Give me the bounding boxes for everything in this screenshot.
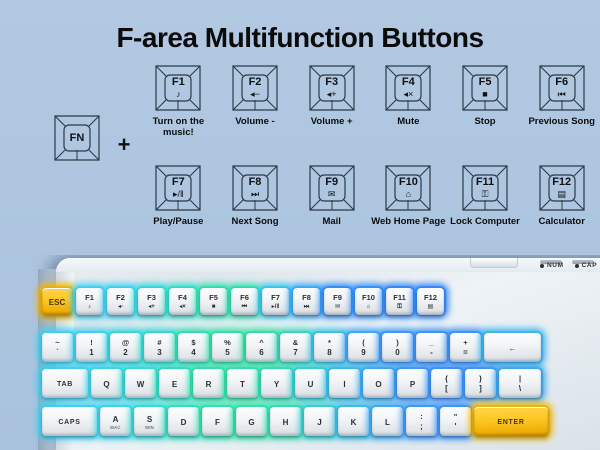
keyboard-key-q[interactable]: Q [91,369,122,398]
keycap-glyph-icon: ◂+ [327,90,337,99]
keyboard-key-esc[interactable]: ESC [42,288,72,315]
key-label: A [113,416,119,424]
key-slot: F2◂- [107,288,134,314]
key-label: ] [479,385,482,393]
keyboard-key-h[interactable]: H [270,407,301,436]
keycap-label: F5 [479,77,492,88]
key-slot: L [372,407,403,435]
keyboard-key-o[interactable]: O [363,369,394,398]
keycap-glyph-icon: ⌂ [406,190,411,199]
fn-combo-f12: F12▤Calculator [523,164,600,228]
key-label: F8 [302,294,311,302]
keycap-label: F11 [476,177,494,188]
keyboard-key-y[interactable]: Y [261,369,292,398]
key-label: 5 [225,349,229,357]
key-label: J [317,419,321,427]
key-slot: ^6 [246,333,277,361]
keyboard-key-key[interactable]: !1 [76,333,107,362]
keycap-f11: F11⚿ [461,164,509,212]
function-caption: Mute [370,117,447,128]
fn-combo-f9: F9✉Mail [293,164,370,228]
key-label: ← [509,345,517,353]
keycap-glyph-icon: ⏮ [558,90,566,99]
fn-combo-f1: F1♪Turn on the music! [140,64,217,139]
function-caption: Calculator [523,217,600,228]
keyboard-key-t[interactable]: T [227,369,258,398]
keycap-label: F2 [249,77,262,88]
key-label: - [430,349,433,357]
key-slot: W [125,369,156,397]
keyboard-key-l[interactable]: L [372,407,403,436]
key-label: F3 [147,294,156,302]
key-slot: F1♪ [76,288,103,314]
key-slot: F [202,407,233,435]
key-shift-label: # [157,339,161,347]
key-label: E [172,381,177,389]
key-label: 0 [395,349,399,357]
key-slot: T [227,369,258,397]
keycap-f1: F1♪ [154,64,202,112]
key-glyph-icon: ⏮ [242,304,247,310]
key-shift-label: @ [122,339,129,347]
key-slot: J [304,407,335,435]
key-slot: Y [261,369,292,397]
function-caption: Mail [293,217,370,228]
keyboard-key-key[interactable]: ~` [42,333,73,362]
key-shift-label: ~ [55,339,59,347]
keyboard-key-i[interactable]: I [329,369,360,398]
key-sublabel: MAC [110,426,120,430]
keycap-label: F3 [325,77,338,88]
keyboard-key-g[interactable]: G [236,407,267,436]
function-caption: Previous Song [523,117,600,128]
key-glyph-icon: ⏭ [304,304,309,310]
led-label: NUM [547,262,564,269]
key-slot: #3 [144,333,175,361]
key-label: ; [420,423,423,431]
keycap-label: F12 [552,177,571,188]
keycap-glyph-icon: ♪ [176,90,181,99]
key-slot: AMAC [100,407,131,435]
key-shift-label: : [420,413,423,421]
usb-port [470,258,518,268]
function-caption: Volume + [293,117,370,128]
keyboard-key-f5[interactable]: F5■ [200,288,227,315]
key-glyph-icon: ▤ [428,304,434,310]
key-slot: TAB [42,369,88,397]
key-label: L [385,419,390,427]
key-slot: F3◂+ [138,288,165,314]
keyboard-key-r[interactable]: R [193,369,224,398]
keycap-label: F9 [325,177,338,188]
fn-combo-f5: F5■Stop [447,64,524,139]
keycap-f10: F10⌂ [384,164,432,212]
keyboard-key-f6[interactable]: F6⏮ [231,288,258,315]
key-label: D [181,419,187,427]
key-slot: &7 [280,333,311,361]
key-slot: Q [91,369,122,397]
key-label: U [308,381,314,389]
key-shift-label: ! [90,339,93,347]
keyboard-key-key[interactable]: #3 [144,333,175,362]
key-label: 8 [327,349,331,357]
led-indicator-cap: CAP [575,262,598,269]
key-glyph-icon: ◂× [179,304,186,310]
key-label: F4 [178,294,187,302]
key-slot: SWIN [134,407,165,435]
key-label: F5 [209,294,218,302]
key-slot: $4 [178,333,209,361]
key-label: I [343,381,345,389]
key-label: Y [274,381,279,389]
key-slot: P [397,369,428,397]
fn-combo-f10: F10⌂Web Home Page [370,164,447,228]
key-shift-label: + [463,339,467,347]
key-glyph-icon: ⚿ [397,304,402,310]
key-slot: += [450,333,481,361]
key-row-qwerty-row: TABQWERTYUIOP{[}]|\ [42,369,541,397]
keyboard-key-f11[interactable]: F11⚿ [386,288,413,315]
key-label: ESC [49,299,65,307]
key-shift-label: ( [362,339,365,347]
keyboard-key-a[interactable]: AMAC [100,407,131,436]
keycap-label: F4 [402,77,415,88]
led-indicator-num: NUM [540,262,564,269]
keyboard-key-e[interactable]: E [159,369,190,398]
key-label: F1 [85,294,94,302]
key-label: CAPS [58,419,80,426]
keycap-glyph-icon: ⏭ [251,190,259,199]
keyboard-key-key[interactable]: "' [440,407,471,436]
keyboard-key-k[interactable]: K [338,407,369,436]
key-shift-label: _ [429,339,433,347]
keyboard-key-u[interactable]: U [295,369,326,398]
function-caption: Stop [447,117,524,128]
key-label: F7 [271,294,280,302]
fn-keycap: FN [53,114,101,162]
key-glyph-icon: ⌂ [367,304,371,310]
key-sublabel: WIN [145,426,154,430]
key-slot: D [168,407,199,435]
keyboard-key-key[interactable]: += [450,333,481,362]
key-shift-label: $ [191,339,195,347]
keyboard-key-key[interactable]: $4 [178,333,209,362]
function-key-row-1: F1♪Turn on the music!F2◂−Volume -F3◂+Vol… [140,64,600,139]
keyboard-key-f8[interactable]: F8⏭ [293,288,320,315]
keyboard-key-d[interactable]: D [168,407,199,436]
key-slot: R [193,369,224,397]
key-label: \ [519,385,521,393]
keycap-label: F6 [555,77,568,88]
keyboard-key-key[interactable]: _- [416,333,447,362]
key-label: F11 [393,294,406,302]
keycap-f6: F6⏮ [538,64,586,112]
key-shift-label: | [519,375,521,383]
indicator-leds: NUMCAP [540,262,597,269]
key-label: F12 [424,294,437,302]
function-caption: Lock Computer [447,217,524,228]
key-slot: ENTER [474,407,548,435]
keyboard-key-caps[interactable]: CAPS [42,407,97,436]
key-label: ENTER [497,419,524,426]
key-slot: U [295,369,326,397]
keycap-glyph-icon: ✉ [328,190,336,199]
led-label: CAP [582,262,598,269]
key-glyph-icon: ▸/‖ [272,304,280,310]
key-label: G [248,419,254,427]
fn-combo-f3: F3◂+Volume + [293,64,370,139]
key-glyph-icon: ♪ [88,304,91,310]
keycap-glyph-icon: ◂− [250,90,260,99]
key-slot: F7▸/‖ [262,288,289,314]
key-label: K [351,419,357,427]
keycap-f8: F8⏭ [231,164,279,212]
page-title: F-area Multifunction Buttons [0,22,600,54]
key-label: F9 [333,294,342,302]
key-slot: F11⚿ [386,288,413,314]
keyboard-key-f10[interactable]: F10⌂ [355,288,382,315]
key-slot: @2 [110,333,141,361]
key-label: F6 [240,294,249,302]
keycap-f4: F4◂× [384,64,432,112]
key-shift-label: { [445,375,448,383]
key-slot: |\ [499,369,541,397]
key-glyph-icon: ◂- [118,304,123,310]
key-label: F2 [116,294,125,302]
function-caption: Turn on the music! [140,117,217,139]
keyboard-key-p[interactable]: P [397,369,428,398]
keyboard-key-enter[interactable]: ENTER [474,407,548,436]
screenshot-root: F-area Multifunction Buttons FN + F1♪Tur… [0,0,600,450]
key-row-home-row: CAPSAMACSWINDFGHJKL:;"'ENTER [42,407,548,435]
key-label: TAB [57,381,73,388]
key-slot: (9 [348,333,379,361]
key-glyph-icon: ■ [212,304,216,310]
key-shift-label: ^ [259,339,263,347]
key-shift-label: * [328,339,331,347]
keyboard-top-edge [56,258,600,272]
key-label: F [215,419,220,427]
key-slot: F4◂× [169,288,196,314]
keyboard-key-f9[interactable]: F9✉ [324,288,351,315]
key-slot: :; [406,407,437,435]
keycap-label: F1 [172,77,185,88]
key-slot: F6⏮ [231,288,258,314]
key-slot: F8⏭ [293,288,320,314]
key-label: W [137,381,145,389]
key-slot: F5■ [200,288,227,314]
key-slot: CAPS [42,407,97,435]
keycap-label: F10 [399,177,418,188]
keycap-glyph-icon: ■ [482,90,487,99]
keycap-f5: F5■ [461,64,509,112]
keyboard-key-key[interactable]: (9 [348,333,379,362]
keycap-f3: F3◂+ [308,64,356,112]
key-slot: E [159,369,190,397]
key-label: O [375,381,381,389]
key-label: 3 [157,349,161,357]
keyboard-key-f12[interactable]: F12▤ [417,288,444,315]
keyboard-key-key[interactable]: @2 [110,333,141,362]
keyboard-key-key[interactable]: ^6 [246,333,277,362]
keycap-glyph-icon: ◂× [403,90,413,99]
keyboard-key-key[interactable]: }] [465,369,496,398]
function-caption: Play/Pause [140,217,217,228]
keyboard-key-f3[interactable]: F3◂+ [138,288,165,315]
key-slot: ~` [42,333,73,361]
plus-symbol: + [112,132,136,158]
key-slot: ESC [42,288,72,314]
keycap-f2: F2◂− [231,64,279,112]
key-glyph-icon: ✉ [335,304,340,310]
key-row-number-row: ~`!1@2#3$4%5^6&7*8(9)0_-+=← [42,333,541,361]
key-slot: H [270,407,301,435]
keycap-glyph-icon: ▸/‖ [173,190,184,199]
key-slot: I [329,369,360,397]
key-slot: %5 [212,333,243,361]
keyboard-key-f4[interactable]: F4◂× [169,288,196,315]
key-slot: )0 [382,333,413,361]
function-caption: Next Song [217,217,294,228]
keyboard-key-f2[interactable]: F2◂- [107,288,134,315]
key-slot: O [363,369,394,397]
key-label: ` [56,349,59,357]
fn-combo-f7: F7▸/‖Play/Pause [140,164,217,228]
key-label: P [410,381,415,389]
function-key-row-2: F7▸/‖Play/PauseF8⏭Next SongF9✉MailF10⌂We… [140,164,600,228]
function-caption: Volume - [217,117,294,128]
key-slot: *8 [314,333,345,361]
key-glyph-icon: ◂+ [148,304,155,310]
key-label: H [283,419,289,427]
key-slot: _- [416,333,447,361]
keycap-f12: F12▤ [538,164,586,212]
key-label: S [147,416,152,424]
key-shift-label: ) [396,339,399,347]
fn-combo-f2: F2◂−Volume - [217,64,294,139]
keycap-glyph-icon: ⚿ [482,190,489,199]
keyboard-key-j[interactable]: J [304,407,335,436]
key-slot: !1 [76,333,107,361]
key-shift-label: % [224,339,231,347]
keyboard-key-key[interactable]: %5 [212,333,243,362]
keycap-f7: F7▸/‖ [154,164,202,212]
keycap-glyph-icon: ▤ [557,190,566,199]
key-row-function-row: ESCF1♪F2◂-F3◂+F4◂×F5■F6⏮F7▸/‖F8⏭F9✉F10⌂F… [42,288,444,314]
key-shift-label: & [293,339,298,347]
led-dot-icon [540,264,544,268]
keycap-label: F7 [172,177,185,188]
key-label: T [240,381,245,389]
keyboard-key-s[interactable]: SWIN [134,407,165,436]
keyboard-key-key[interactable]: {[ [431,369,462,398]
key-label: 7 [293,349,297,357]
key-label: 1 [89,349,93,357]
keyboard-key-key[interactable]: &7 [280,333,311,362]
key-label: 9 [361,349,365,357]
keyboard-key-tab[interactable]: TAB [42,369,88,398]
keyboard-key-w[interactable]: W [125,369,156,398]
key-label: ' [455,423,457,431]
fn-combination-diagram: FN + F1♪Turn on the music!F2◂−Volume -F3… [0,62,600,252]
key-label: 2 [123,349,127,357]
keyboard-key-key[interactable]: ← [484,333,541,362]
keyboard-key-key[interactable]: |\ [499,369,541,398]
key-slot: "' [440,407,471,435]
key-label: = [463,349,468,357]
fn-key-block: FN [42,114,112,162]
key-label: Q [103,381,109,389]
key-shift-label: " [454,413,458,421]
key-slot: F10⌂ [355,288,382,314]
key-slot: {[ [431,369,462,397]
keyboard-key-f[interactable]: F [202,407,233,436]
fn-combo-f11: F11⚿Lock Computer [447,164,524,228]
fn-combo-f6: F6⏮Previous Song [523,64,600,139]
keycap-label: F8 [249,177,262,188]
keyboard-key-f1[interactable]: F1♪ [76,288,103,315]
keycap-f9: F9✉ [308,164,356,212]
fn-combo-f4: F4◂×Mute [370,64,447,139]
fn-combo-f8: F8⏭Next Song [217,164,294,228]
key-slot: ← [484,333,541,361]
key-slot: G [236,407,267,435]
function-caption: Web Home Page [370,217,447,228]
keyboard-key-key[interactable]: )0 [382,333,413,362]
keyboard-key-f7[interactable]: F7▸/‖ [262,288,289,315]
key-label: 6 [259,349,263,357]
keyboard-key-key[interactable]: *8 [314,333,345,362]
key-label: 4 [191,349,195,357]
keyboard-key-key[interactable]: :; [406,407,437,436]
led-dot-icon [575,264,579,268]
key-slot: }] [465,369,496,397]
key-slot: F12▤ [417,288,444,314]
key-shift-label: } [479,375,482,383]
key-label: F10 [362,294,375,302]
fn-key-label: FN [70,133,85,144]
key-slot: K [338,407,369,435]
key-label: R [206,381,212,389]
key-label: [ [445,385,448,393]
key-slot: F9✉ [324,288,351,314]
